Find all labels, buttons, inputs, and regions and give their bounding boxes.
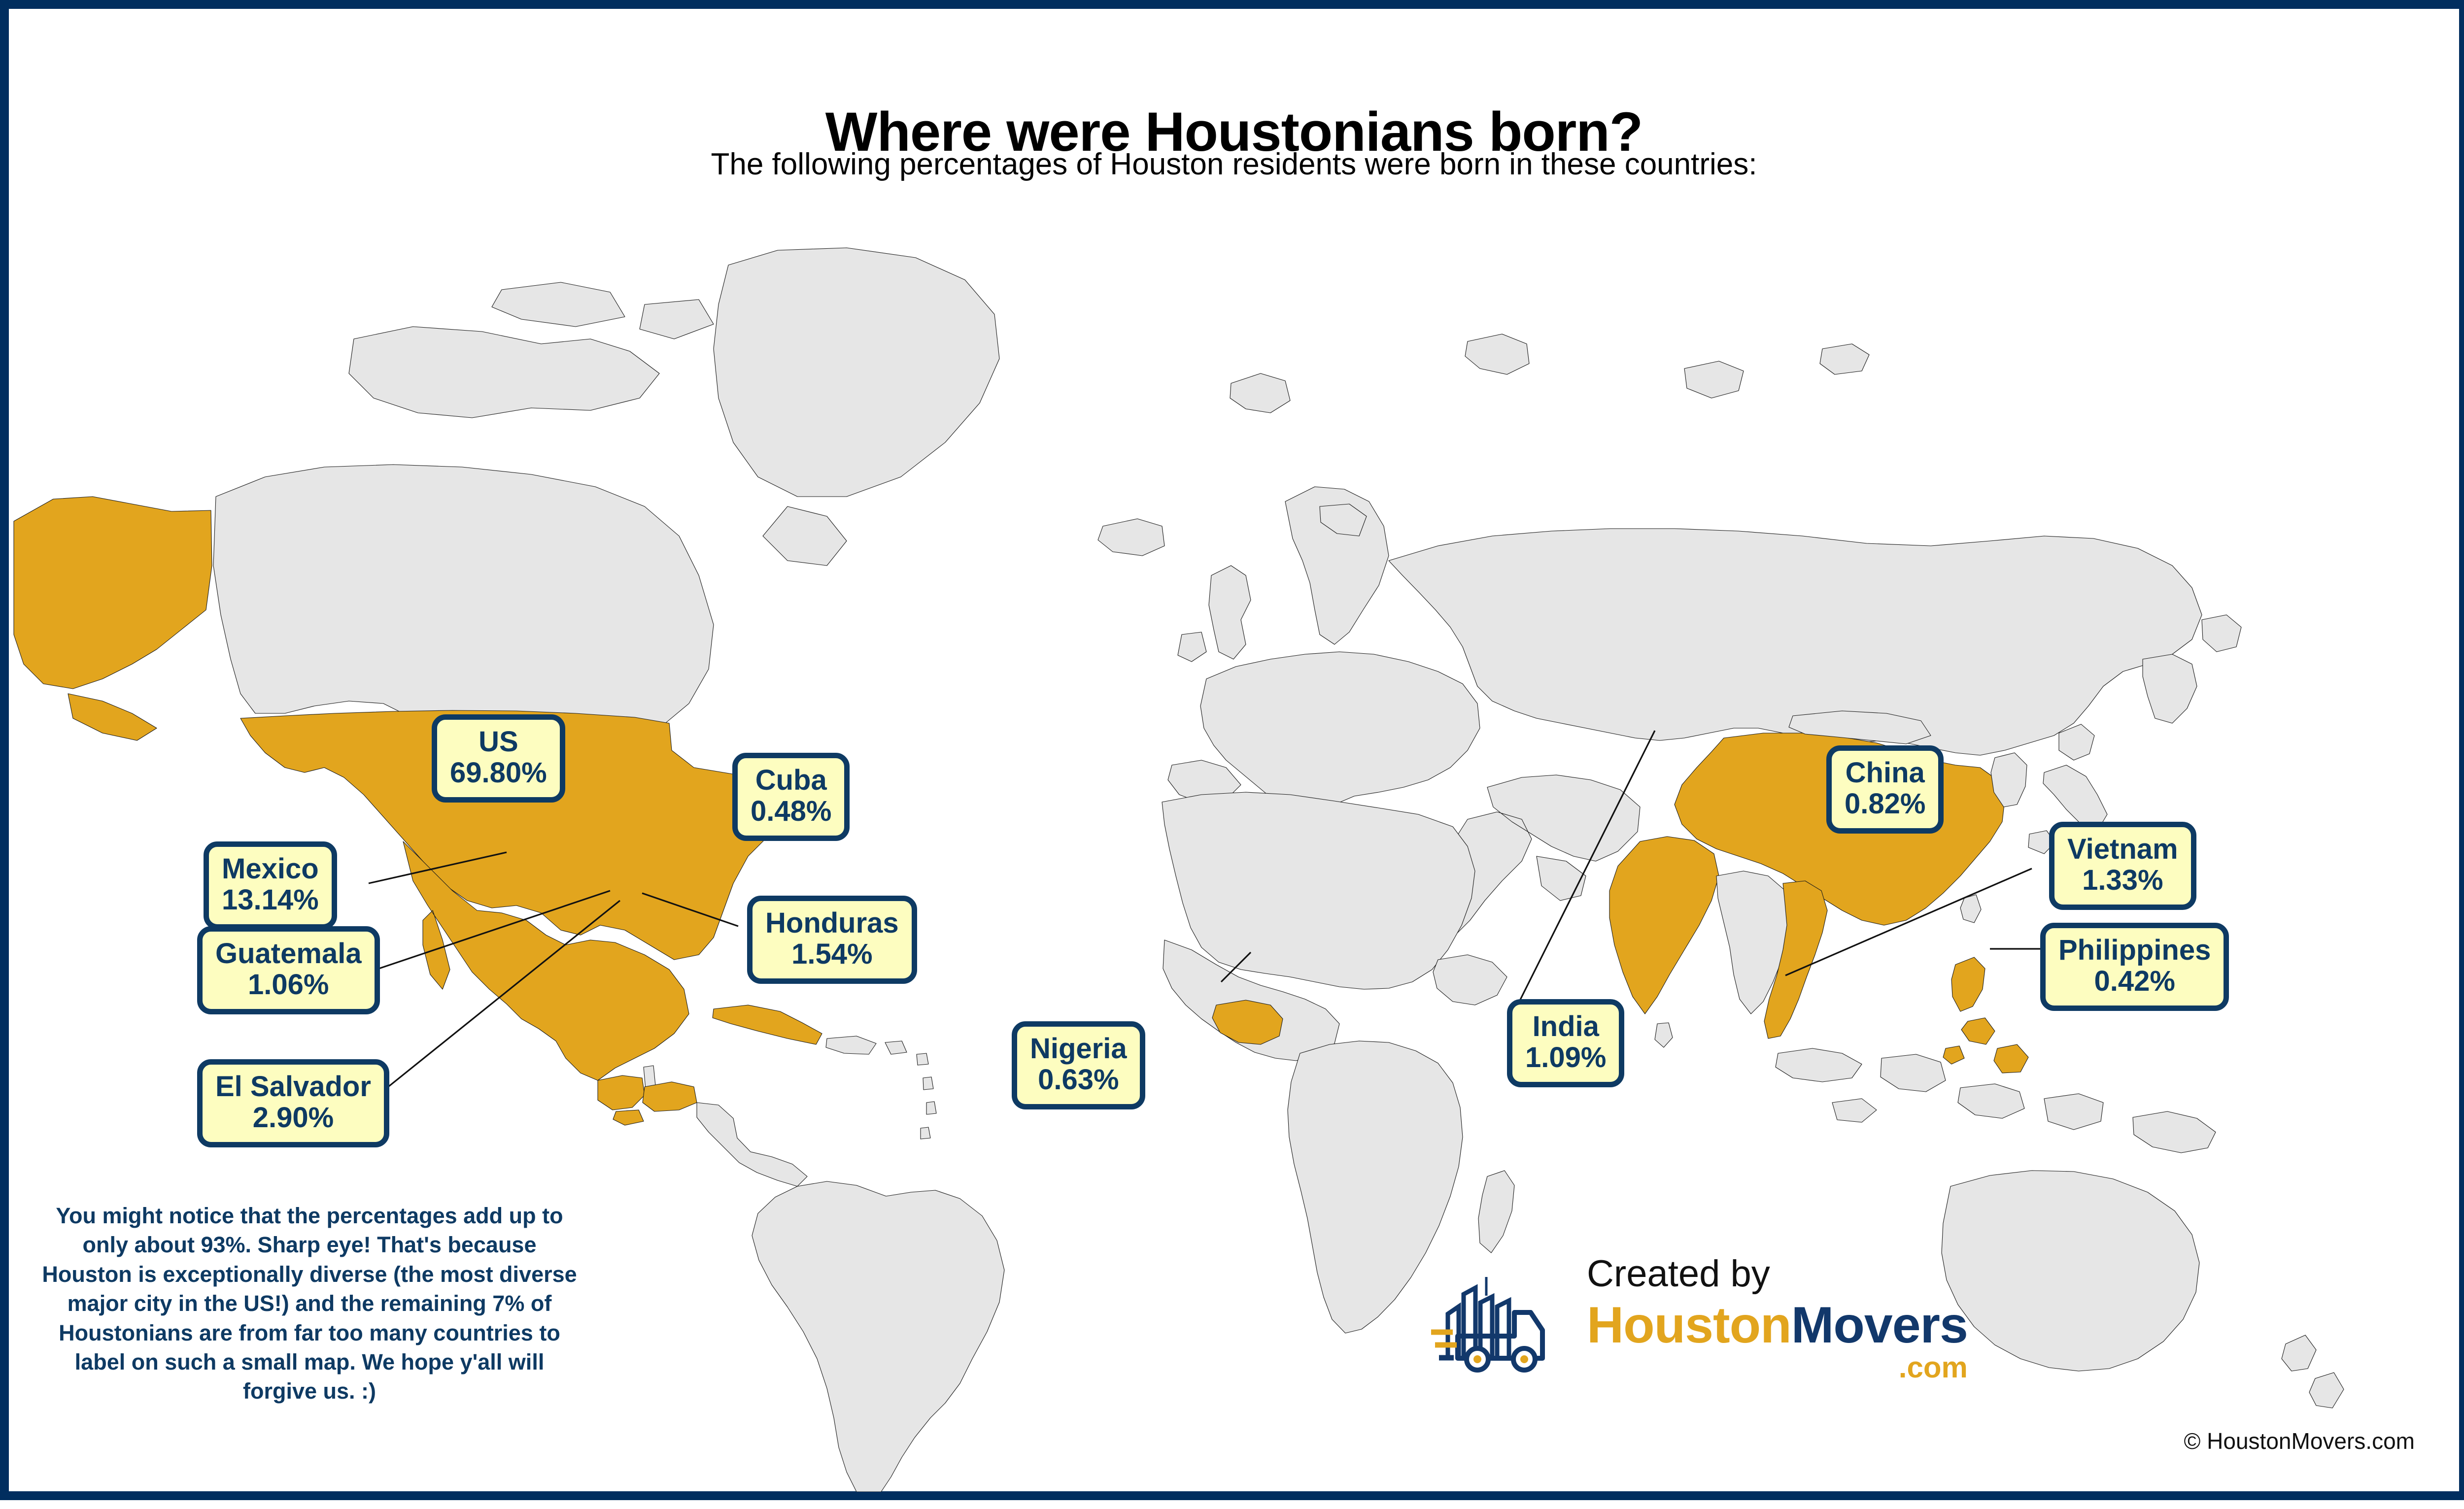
country-guatemala — [598, 1075, 645, 1110]
page-subtitle: The following percentages of Houston res… — [9, 147, 2459, 182]
country-honduras — [643, 1082, 697, 1111]
map-label-mexico-value: 13.14% — [222, 885, 319, 916]
country-new-zealand — [2282, 1335, 2344, 1408]
region-alaska — [14, 497, 212, 740]
country-philippines — [1943, 957, 2028, 1073]
region-central-america-south — [697, 1103, 807, 1186]
footnote-disclaimer: You might notice that the percentages ad… — [38, 1201, 581, 1406]
country-india — [1609, 837, 1719, 1014]
map-label-us-name: US — [450, 727, 547, 758]
map-label-guatemala[interactable]: Guatemala 1.06% — [197, 926, 380, 1014]
map-label-india-value: 1.09% — [1525, 1042, 1606, 1073]
map-label-vietnam-value: 1.33% — [2067, 865, 2178, 896]
logo-text-group: Created by HoustonMovers .com — [1587, 1255, 1968, 1382]
map-label-us-value: 69.80% — [450, 758, 547, 789]
country-cuba — [713, 1005, 822, 1044]
map-label-philippines[interactable]: Philippines 0.42% — [2040, 923, 2229, 1011]
map-label-honduras[interactable]: Honduras 1.54% — [747, 896, 917, 984]
map-label-cuba-name: Cuba — [751, 765, 831, 796]
country-greenland — [714, 248, 999, 566]
country-madagascar — [1478, 1171, 1514, 1253]
map-label-cuba-value: 0.48% — [751, 796, 831, 827]
map-label-mexico[interactable]: Mexico 13.14% — [204, 841, 337, 930]
map-label-cuba[interactable]: Cuba 0.48% — [732, 753, 850, 841]
map-label-vietnam-name: Vietnam — [2067, 834, 2178, 865]
map-label-philippines-value: 0.42% — [2058, 966, 2211, 997]
map-label-vietnam[interactable]: Vietnam 1.33% — [2049, 822, 2196, 910]
logo-block[interactable]: Created by HoustonMovers .com — [1428, 1255, 1968, 1382]
created-by-label: Created by — [1587, 1255, 1968, 1293]
map-label-philippines-name: Philippines — [2058, 935, 2211, 966]
country-el-salvador — [613, 1110, 644, 1125]
region-british-isles — [1178, 566, 1251, 662]
brand-tld: .com — [1587, 1353, 1968, 1382]
map-label-el-salvador-name: El Salvador — [215, 1072, 371, 1103]
map-label-guatemala-name: Guatemala — [215, 939, 362, 970]
map-label-nigeria-value: 0.63% — [1030, 1065, 1127, 1096]
map-label-china-name: China — [1845, 758, 1925, 789]
brand-wordmark: HoustonMovers — [1587, 1300, 1968, 1351]
map-label-china-value: 0.82% — [1845, 789, 1925, 820]
country-australia — [1942, 1171, 2199, 1371]
map-label-honduras-name: Honduras — [765, 908, 899, 939]
brand-movers: Movers — [1791, 1297, 1968, 1354]
map-label-us[interactable]: US 69.80% — [432, 714, 565, 803]
map-label-nigeria-name: Nigeria — [1030, 1034, 1127, 1065]
country-nigeria — [1212, 1000, 1283, 1044]
brand-houston: Houston — [1587, 1297, 1791, 1354]
country-iceland — [1098, 519, 1164, 556]
region-maritime-southeast-asia — [1776, 1048, 2103, 1130]
map-label-honduras-value: 1.54% — [765, 939, 899, 970]
map-label-el-salvador[interactable]: El Salvador 2.90% — [197, 1059, 389, 1147]
map-label-nigeria[interactable]: Nigeria 0.63% — [1012, 1021, 1145, 1109]
continent-south-america — [752, 1181, 1004, 1492]
region-arctic-islands — [1230, 334, 1869, 413]
map-label-india[interactable]: India 1.09% — [1507, 999, 1624, 1087]
country-taiwan — [1960, 895, 1981, 923]
region-canadian-arctic — [349, 282, 714, 418]
moving-truck-skyline-icon — [1428, 1257, 1576, 1380]
copyright-notice: © HoustonMovers.com — [2184, 1428, 2415, 1454]
region-north-africa — [1162, 792, 1475, 989]
country-sri-lanka — [1655, 1023, 1673, 1047]
country-papua-new-guinea — [2133, 1111, 2216, 1153]
map-label-el-salvador-value: 2.90% — [215, 1103, 371, 1134]
region-horn-of-africa — [1433, 955, 1507, 1005]
infographic-page: Where were Houstonians born? The followi… — [0, 0, 2464, 1500]
map-label-guatemala-value: 1.06% — [215, 970, 362, 1001]
map-label-mexico-name: Mexico — [222, 854, 319, 885]
region-scandinavia — [1285, 487, 1389, 644]
map-label-india-name: India — [1525, 1011, 1606, 1042]
region-caribbean-islands — [826, 1036, 936, 1139]
map-label-china[interactable]: China 0.82% — [1826, 745, 1944, 834]
